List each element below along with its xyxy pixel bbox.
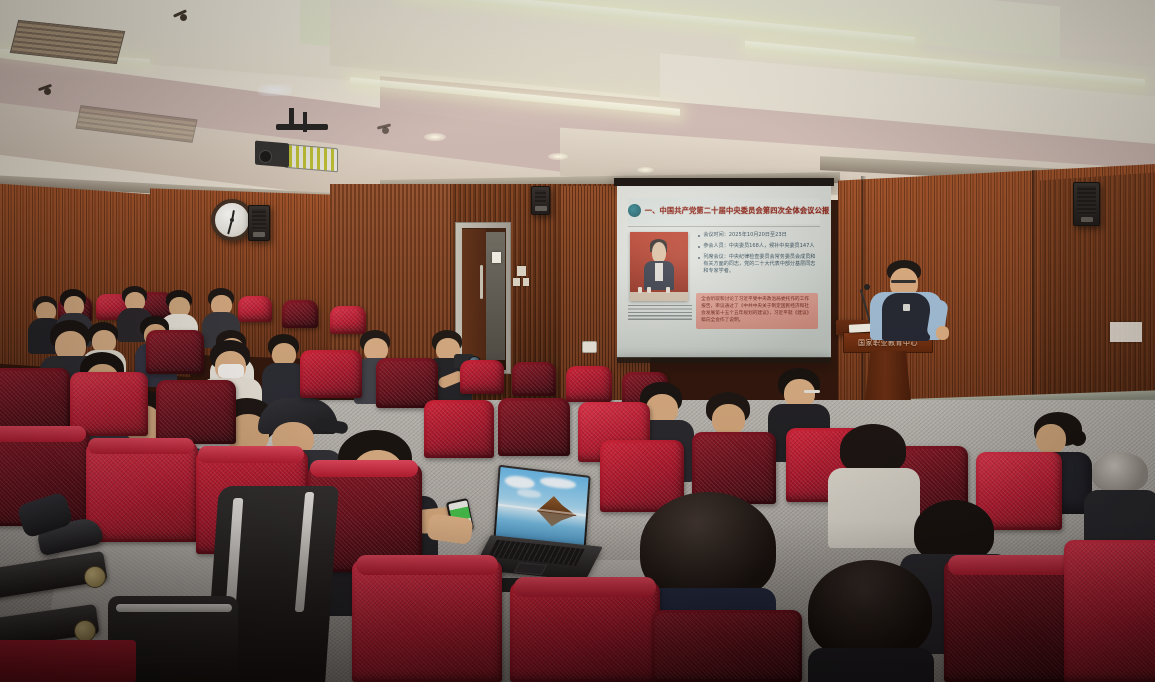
laptop-keyboard[interactable] [488,540,585,566]
bullet-dot-icon [698,257,700,259]
projector-mount-bar [276,124,328,130]
slide-photo [630,232,688,301]
slide-divider [628,226,821,227]
photo-cup [638,287,642,293]
downlight [258,84,292,96]
slide-bullet: 会议时间：2025年10月20日至23日 [698,232,820,239]
speaker-grill [1077,186,1096,215]
wall-notice-sign [517,266,526,276]
gray-hair [1092,452,1148,492]
slide-bullet: 列席会议：中央纪律检查委员会常务委员会成员和有关方面的同志，党的二十大代表中部分… [698,254,820,276]
bullet-dot-icon [698,235,700,237]
speaker-badge [535,206,547,211]
screen-bottom-bar [617,357,831,363]
eyeglasses [804,390,820,393]
left-wall-speaker [248,205,270,241]
bullet-text: 会议时间：2025年10月20日至23日 [703,232,786,239]
slide-bullet: 参会人员：中央委员168人，候补中央委员147人 [698,243,820,250]
foreground-head [640,492,776,602]
wall-notice-sign [523,278,529,286]
slide-surface: 一、中国共产党第二十届中央委员会第四次全体会议公报 会议时间：2025年10月2… [617,186,831,358]
slide-title: 一、中国共产党第二十届中央委员会第四次全体会议公报 [645,207,830,214]
bullet-text: 列席会议：中央纪律检查委员会常务委员会成员和有关方面的同志，党的二十大代表中部分… [703,254,820,276]
projection-screen: 一、中国共产党第二十届中央委员会第四次全体会议公报 会议时间：2025年10月2… [617,186,831,358]
laptop-trackpad[interactable] [514,562,547,575]
wall-power-outlet[interactable] [582,341,597,353]
slide-highlight-box: 全会听取和讨论了习近平受中央政治局委托作的工作报告，审议通过了《中共中央关于制定… [696,293,818,329]
presenter [866,260,952,330]
highlight-text: 全会听取和讨论了习近平受中央政治局委托作的工作报告，审议通过了《中共中央关于制定… [701,296,813,324]
front-wall-speaker [531,186,550,215]
seat-chrome-trim [116,604,232,612]
right-wall-speaker [1073,182,1100,226]
slide-bullet-list: 会议时间：2025年10月20日至23日 参会人员：中央委员168人，候补中央委… [698,232,820,278]
auditorium-scene: 一、中国共产党第二十届中央委员会第四次全体会议公报 会议时间：2025年10月2… [0,0,1155,682]
bullet-dot-icon [698,246,700,248]
slide-title-bar: 一、中国共产党第二十届中央委员会第四次全体会议公报 [628,198,821,224]
presenter-hand [936,326,949,340]
clock-center-pin [230,218,234,222]
party-emblem-icon [628,204,641,217]
photo-shirt [655,263,663,281]
right-wall-notice [1110,322,1142,342]
armrest-pivot [74,620,96,642]
downlight [637,167,654,173]
speaker-badge [1081,217,1093,222]
presenter-badge [903,304,910,311]
slide-photo-caption [628,305,692,320]
downlight [424,133,446,141]
hair-bun [1070,430,1086,446]
photo-cup [666,287,670,293]
projector-lens [259,150,272,163]
sprinkler-head-icon [180,14,187,21]
door-handle[interactable] [480,265,483,299]
seat-cushion[interactable] [0,640,136,682]
bullet-text: 参会人员：中央委员168人，候补中央委员147人 [703,243,814,250]
clock-minute-hand [228,221,233,235]
photo-cup [647,287,651,293]
downlight [548,153,568,160]
wall-clock [211,199,253,241]
wall-notice-sign [513,278,520,286]
door-sign [492,252,501,263]
speaker-grill [252,209,266,230]
speaker-grill [535,190,546,204]
speaker-badge [253,232,265,237]
ceiling-projector [284,144,338,173]
presenter-vest [882,293,930,341]
screen-top-bar [614,178,834,186]
sprinkler-head-icon [382,127,389,134]
photo-head [652,242,666,263]
photo-desk [630,292,688,302]
door-leaf[interactable] [462,229,486,369]
sprinkler-head-icon [44,88,51,95]
presenter-glasses [891,280,916,283]
face-mask [218,364,244,378]
armrest-pivot [84,566,106,588]
